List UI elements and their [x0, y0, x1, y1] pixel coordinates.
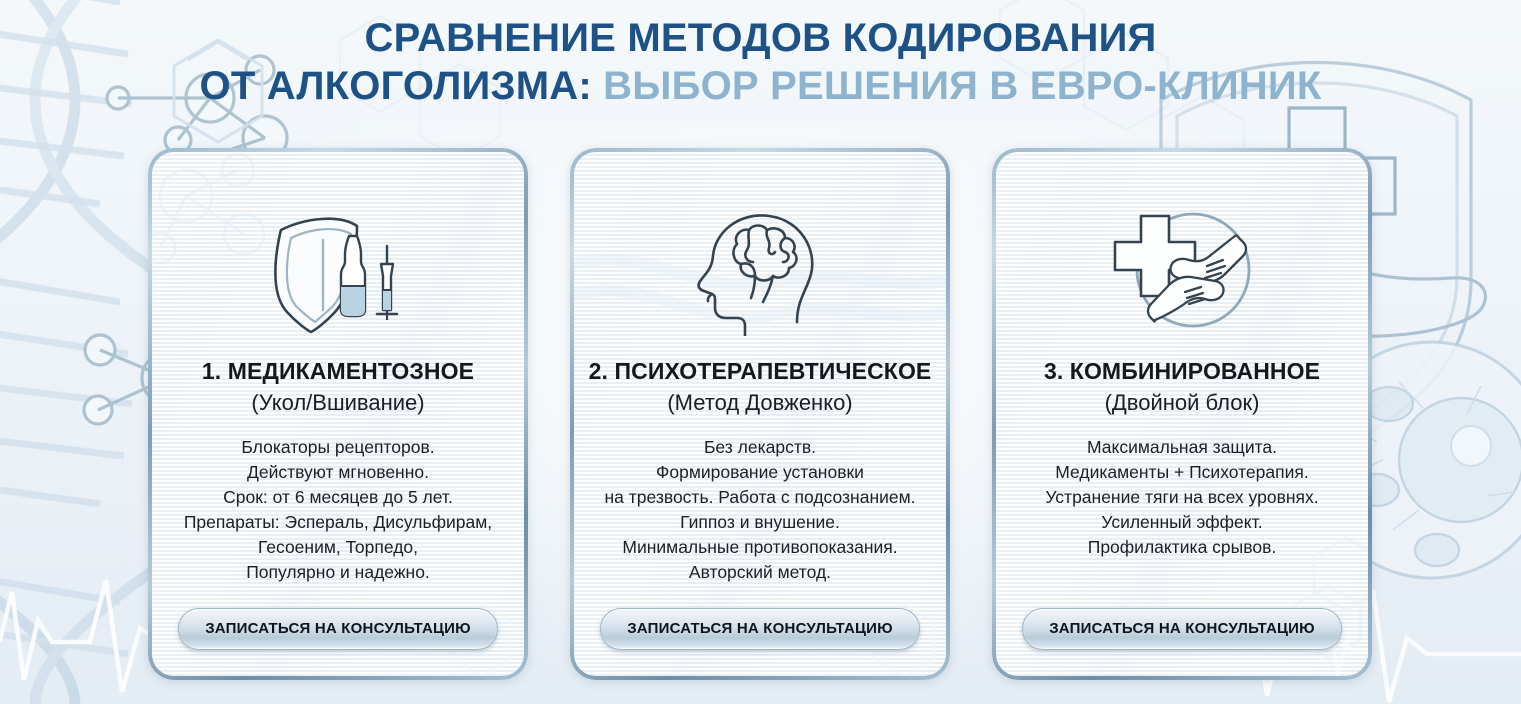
card-body-line: Устранение тяги на всех уровнях.: [1045, 485, 1318, 510]
card-body: Без лекарств. Формирование установки на …: [598, 435, 921, 585]
card-body-line: Профилактика срывов.: [1045, 535, 1318, 560]
card-body-line: Авторский метод.: [604, 560, 915, 585]
card-body-line: Блокаторы рецепторов.: [184, 435, 492, 460]
card-body-line: Гесоеним, Торпедо,: [184, 535, 492, 560]
page-title-line-2-main: ОТ АЛКОГОЛИЗМА:: [200, 64, 592, 108]
infographic-banner: СРАВНЕНИЕ МЕТОДОВ КОДИРОВАНИЯ ОТ АЛКОГОЛ…: [0, 0, 1521, 704]
card-body: Максимальная защита. Медикаменты + Психо…: [1039, 435, 1324, 560]
page-title-line-2-accent: ВЫБОР РЕШЕНИЯ В ЕВРО-КЛИНИК: [603, 64, 1321, 108]
card-body-line: Медикаменты + Психотерапия.: [1045, 460, 1318, 485]
head-brain-icon: [685, 204, 835, 336]
card-body-line: Препараты: Эспераль, Дисульфирам,: [184, 510, 492, 535]
card-body-line: Формирование установки: [604, 460, 915, 485]
page-title-line-1: СРАВНЕНИЕ МЕТОДОВ КОДИРОВАНИЯ: [0, 14, 1521, 62]
card-subtitle: (Двойной блок): [1105, 390, 1260, 416]
card-subtitle: (Укол/Вшивание): [251, 390, 424, 416]
cross-helping-hands-icon: [1107, 204, 1257, 336]
card-body-line: на трезвость. Работа с подсознанием.: [604, 485, 915, 510]
method-card-combined[interactable]: 3. КОМБИНИРОВАННОЕ (Двойной блок) Максим…: [992, 148, 1372, 680]
method-cards-row: 1. МЕДИКАМЕНТОЗНОЕ (Укол/Вшивание) Блока…: [148, 148, 1372, 680]
card-title: 1. МЕДИКАМЕНТОЗНОЕ: [202, 358, 474, 385]
card-body: Блокаторы рецепторов. Действуют мгновенн…: [178, 435, 498, 585]
card-title: 2. ПСИХОТЕРАПЕВТИЧЕСКОЕ: [589, 358, 932, 385]
card-body-line: Популярно и надежно.: [184, 560, 492, 585]
card-body-line: Усиленный эффект.: [1045, 510, 1318, 535]
book-consultation-button[interactable]: ЗАПИСАТЬСЯ НА КОНСУЛЬТАЦИЮ: [178, 608, 498, 650]
book-consultation-button[interactable]: ЗАПИСАТЬСЯ НА КОНСУЛЬТАЦИЮ: [1022, 608, 1342, 650]
card-body-line: Без лекарств.: [604, 435, 915, 460]
card-subtitle: (Метод Довженко): [667, 390, 852, 416]
shield-ampoule-syringe-icon: [263, 204, 413, 336]
card-body-line: Действуют мгновенно.: [184, 460, 492, 485]
card-body-line: Срок: от 6 месяцев до 5 лет.: [184, 485, 492, 510]
card-title: 3. КОМБИНИРОВАННОЕ: [1044, 358, 1320, 385]
method-card-medication[interactable]: 1. МЕДИКАМЕНТОЗНОЕ (Укол/Вшивание) Блока…: [148, 148, 528, 680]
book-consultation-button[interactable]: ЗАПИСАТЬСЯ НА КОНСУЛЬТАЦИЮ: [600, 608, 920, 650]
card-body-line: Гиппоз и внушение.: [604, 510, 915, 535]
card-body-line: Минимальные противопоказания.: [604, 535, 915, 560]
page-title: СРАВНЕНИЕ МЕТОДОВ КОДИРОВАНИЯ ОТ АЛКОГОЛ…: [0, 14, 1521, 110]
method-card-psychotherapy[interactable]: 2. ПСИХОТЕРАПЕВТИЧЕСКОЕ (Метод Довженко)…: [570, 148, 950, 680]
card-body-line: Максимальная защита.: [1045, 435, 1318, 460]
page-title-line-2: ОТ АЛКОГОЛИЗМА: ВЫБОР РЕШЕНИЯ В ЕВРО-КЛИ…: [0, 62, 1521, 110]
